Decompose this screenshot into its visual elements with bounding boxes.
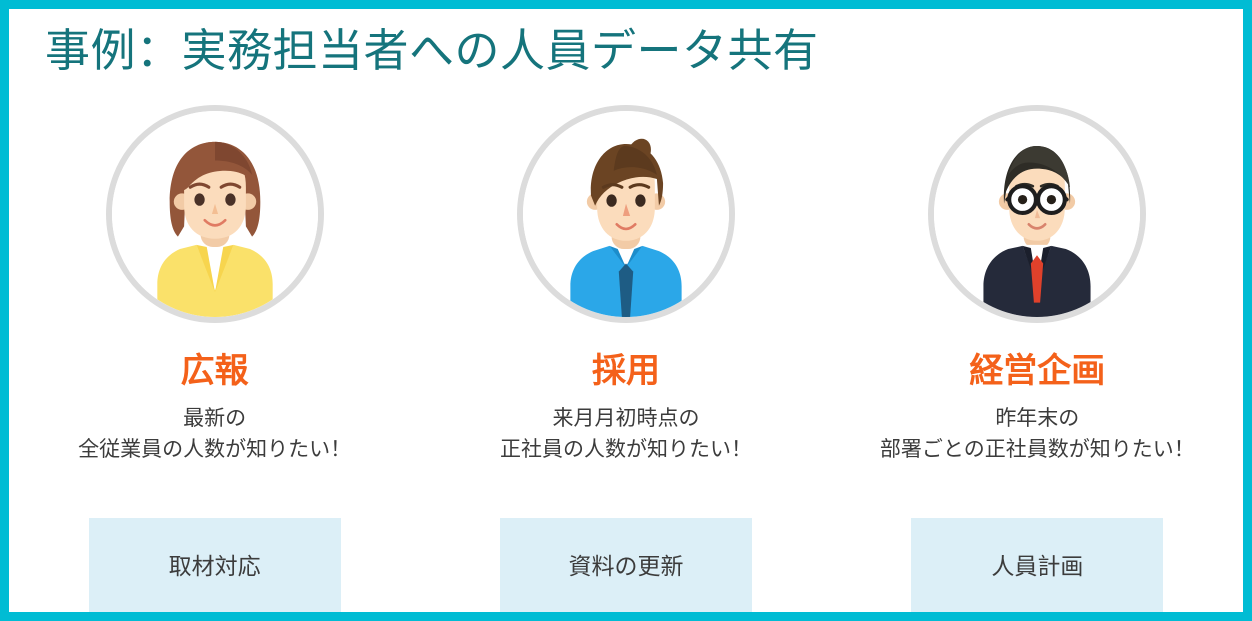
role-description-line-1: 昨年末の (880, 404, 1195, 434)
role-description-line-2: 部署ごとの正社員数が知りたい！ (880, 435, 1195, 465)
role-description-line-1: 最新の (78, 404, 351, 434)
task-label: 取材対応 (169, 555, 261, 584)
role-description: 最新の 全従業員の人数が知りたい！ (78, 404, 351, 465)
page-title: 事例：実務担当者への人員データ共有 (45, 23, 819, 79)
task-box-2[interactable]: 資料の更新 (500, 518, 752, 620)
avatar-man-glasses-suit (928, 105, 1146, 323)
role-description: 昨年末の 部署ごとの正社員数が知りたい！ (880, 404, 1195, 465)
task-label: 人員計画 (991, 555, 1083, 584)
persona-column-3: 経営企画 昨年末の 部署ごとの正社員数が知りたい！ 人員計画 (832, 105, 1243, 612)
task-label: 資料の更新 (568, 555, 683, 584)
persona-column-1: 広報 最新の 全従業員の人数が知りたい！ 取材対応 (9, 105, 420, 612)
role-description-line-1: 来月月初時点の (500, 404, 752, 434)
avatar-man-blue-shirt (517, 105, 735, 323)
task-box-1[interactable]: 取材対応 (89, 518, 341, 620)
avatar-woman-icon (112, 111, 318, 317)
role-description-line-2: 正社員の人数が知りたい！ (500, 435, 752, 465)
role-description-line-2: 全従業員の人数が知りたい！ (78, 435, 351, 465)
slide-container: 事例：実務担当者への人員データ共有 (0, 0, 1252, 621)
role-title: 広報 (181, 353, 249, 390)
task-box-3[interactable]: 人員計画 (911, 518, 1163, 620)
avatar-man-suit-icon (934, 111, 1140, 317)
role-title: 採用 (592, 353, 660, 390)
avatar-woman-yellow-jacket (106, 105, 324, 323)
avatar-man-blue-icon (523, 111, 729, 317)
role-title: 経営企画 (969, 353, 1105, 390)
persona-columns: 広報 最新の 全従業員の人数が知りたい！ 取材対応 (9, 105, 1243, 612)
role-description: 来月月初時点の 正社員の人数が知りたい！ (500, 404, 752, 465)
persona-column-2: 採用 来月月初時点の 正社員の人数が知りたい！ 資料の更新 (420, 105, 831, 612)
